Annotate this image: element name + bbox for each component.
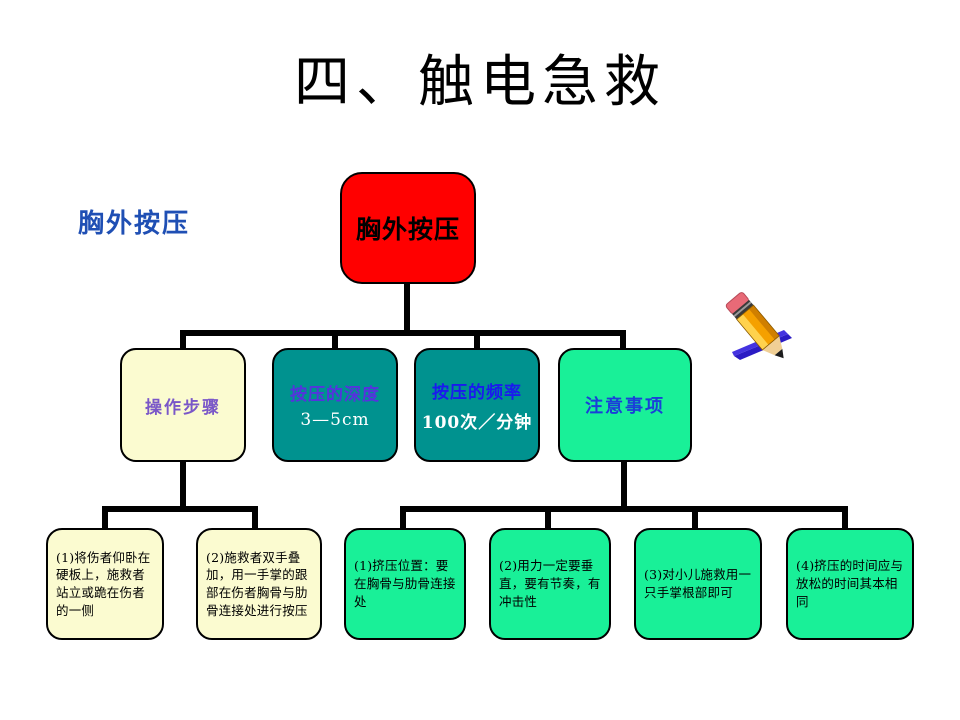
node-root-label: 胸外按压 [356, 210, 460, 246]
leaf-note-1[interactable]: (1)挤压位置：要在胸骨与肋骨连接处 [344, 528, 466, 640]
connector-steps-bus [102, 506, 258, 512]
leaf-note-2[interactable]: (2)用力一定要垂直，要有节奏，有冲击性 [489, 528, 611, 640]
connector-root-stem [404, 284, 410, 334]
leaf-step-1-text: (1)将伤者仰卧在硬板上，施救者站立或跪在伤者的一侧 [56, 549, 154, 620]
connector-drop-note-3 [692, 506, 698, 530]
leaf-step-2-text: (2)施救者双手叠加，用一手掌的跟部在伤者胸骨与肋骨连接处进行按压 [206, 549, 312, 620]
node-compression-depth[interactable]: 按压的深度 3—5cm [272, 348, 398, 462]
node-compression-frequency-value: 100次／分钟 [422, 408, 533, 433]
connector-drop-note-4 [842, 506, 848, 530]
section-caption: 胸外按压 [78, 203, 190, 240]
pencil-icon [718, 283, 804, 367]
node-operation-steps-label: 操作步骤 [145, 393, 221, 418]
leaf-note-4[interactable]: (4)挤压的时间应与放松的时间其本相同 [786, 528, 914, 640]
connector-drop-steps [180, 330, 186, 350]
connector-drop-note-2 [545, 506, 551, 530]
connector-row2-bus [180, 330, 626, 336]
connector-drop-depth [332, 330, 338, 350]
leaf-step-2[interactable]: (2)施救者双手叠加，用一手掌的跟部在伤者胸骨与肋骨连接处进行按压 [196, 528, 322, 640]
connector-notes-stem [621, 462, 627, 510]
connector-drop-notes [620, 330, 626, 350]
slide-canvas: 四、触电急救 胸外按压 胸外按压 操作步骤 按压的深度 3—5cm 按压的频率 … [0, 0, 960, 720]
page-title: 四、触电急救 [0, 52, 960, 114]
node-precautions[interactable]: 注意事项 [558, 348, 692, 462]
connector-drop-step-2 [252, 506, 258, 530]
node-compression-frequency[interactable]: 按压的频率 100次／分钟 [414, 348, 540, 462]
leaf-note-1-text: (1)挤压位置：要在胸骨与肋骨连接处 [354, 557, 456, 610]
leaf-step-1[interactable]: (1)将伤者仰卧在硬板上，施救者站立或跪在伤者的一侧 [46, 528, 164, 640]
connector-drop-note-1 [400, 506, 406, 530]
connector-drop-step-1 [102, 506, 108, 530]
node-root-chest-compression[interactable]: 胸外按压 [340, 172, 476, 284]
leaf-note-3-text: (3)对小儿施救用一只手掌根部即可 [644, 566, 752, 602]
connector-drop-frequency [474, 330, 480, 350]
connector-notes-bus [400, 506, 848, 512]
node-operation-steps[interactable]: 操作步骤 [120, 348, 246, 462]
connector-steps-stem [180, 462, 186, 510]
leaf-note-4-text: (4)挤压的时间应与放松的时间其本相同 [796, 557, 904, 610]
node-compression-depth-label: 按压的深度 [290, 380, 380, 405]
node-compression-depth-value: 3—5cm [300, 410, 369, 430]
node-compression-frequency-label: 按压的频率 [432, 378, 522, 403]
node-precautions-label: 注意事项 [585, 392, 665, 418]
leaf-note-3[interactable]: (3)对小儿施救用一只手掌根部即可 [634, 528, 762, 640]
leaf-note-2-text: (2)用力一定要垂直，要有节奏，有冲击性 [499, 557, 601, 610]
